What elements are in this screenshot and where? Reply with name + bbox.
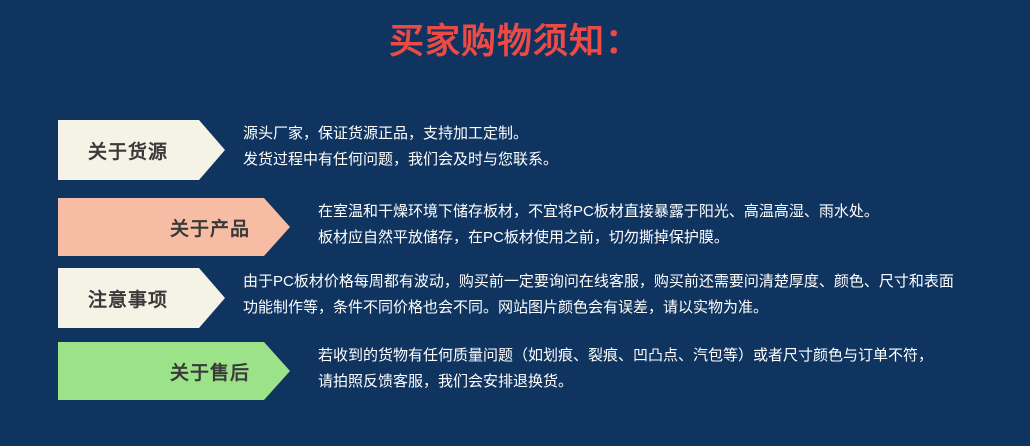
copy-line: 功能制作等，条件不同价格也会不同。网站图片颜色会有误差，请以实物为准。 — [243, 295, 954, 321]
section-label-product: 关于产品 — [170, 214, 250, 241]
section-copy-source: 源头厂家，保证货源正品，支持加工定制。 发货过程中有任何问题，我们会及时与您联系… — [243, 121, 558, 173]
copy-line: 若收到的货物有任何质量问题（如划痕、裂痕、凹凸点、汽包等）或者尺寸颜色与订单不符… — [318, 343, 933, 369]
copy-line: 由于PC板材价格每周都有波动，购买前一定要询问在线客服，购买前还需要问清楚厚度、… — [243, 269, 954, 295]
section-label-notes: 注意事项 — [88, 285, 168, 312]
section-label-source: 关于货源 — [88, 137, 168, 164]
buyer-notice-banner: 买家购物须知： 关于货源 源头厂家，保证货源正品，支持加工定制。 发货过程中有任… — [0, 0, 1030, 446]
section-banner-source: 关于货源 — [58, 120, 225, 180]
section-banner-notes: 注意事项 — [58, 268, 225, 328]
copy-line: 发货过程中有任何问题，我们会及时与您联系。 — [243, 147, 558, 173]
section-banner-product: 关于产品 — [58, 198, 290, 256]
section-copy-product: 在室温和干燥环境下储存板材，不宜将PC板材直接暴露于阳光、高温高湿、雨水处。 板… — [318, 199, 879, 251]
section-copy-notes: 由于PC板材价格每周都有波动，购买前一定要询问在线客服，购买前还需要问清楚厚度、… — [243, 269, 954, 321]
copy-line: 在室温和干燥环境下储存板材，不宜将PC板材直接暴露于阳光、高温高湿、雨水处。 — [318, 199, 879, 225]
section-banner-after-sales: 关于售后 — [58, 342, 290, 400]
section-label-after-sales: 关于售后 — [170, 358, 250, 385]
page-title: 买家购物须知： — [0, 20, 1030, 64]
copy-line: 请拍照反馈客服，我们会安排退换货。 — [318, 369, 933, 395]
copy-line: 板材应自然平放储存，在PC板材使用之前，切勿撕掉保护膜。 — [318, 225, 879, 251]
copy-line: 源头厂家，保证货源正品，支持加工定制。 — [243, 121, 558, 147]
section-copy-after-sales: 若收到的货物有任何质量问题（如划痕、裂痕、凹凸点、汽包等）或者尺寸颜色与订单不符… — [318, 343, 933, 395]
